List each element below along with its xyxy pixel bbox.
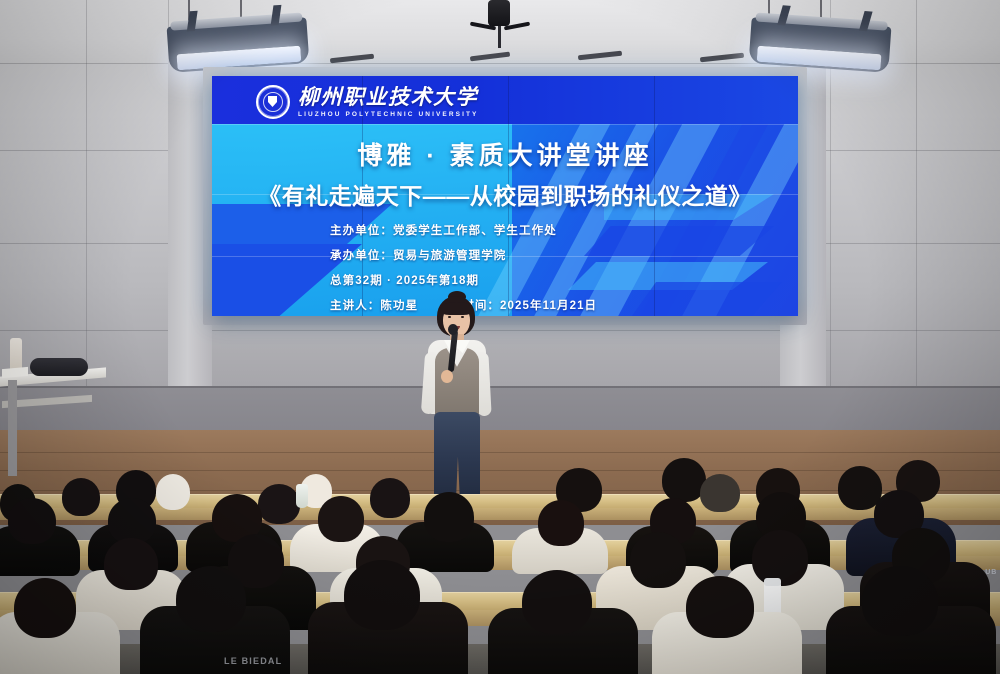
speaker-hand [441,370,453,383]
audience-head [630,532,686,588]
slide-title: 博雅 · 素质大讲堂讲座 [212,136,798,172]
university-logo: 柳州职业技术大学 LIUZHOU POLYTECHNIC UNIVERSITY [256,85,479,119]
info-value: 总第32期 · 2025年第18期 [330,275,479,287]
audience-head [14,578,76,638]
audience-head [370,478,410,518]
speaker-eye [448,316,451,318]
ceiling-projector-icon [470,0,530,42]
led-video-wall: 柳州职业技术大学 LIUZHOU POLYTECHNIC UNIVERSITY … [212,76,798,316]
university-seal-icon [256,85,290,119]
time-value: 2025年11月21日 [500,300,597,312]
info-value: 贸易与旅游管理学院 [393,250,506,262]
audience-head [538,500,584,546]
audience-head [344,560,420,630]
hoodie-text: LE BIEDAL [224,656,282,666]
audience-head [62,478,100,516]
university-name-en: LIUZHOU POLYTECHNIC UNIVERSITY [298,111,479,118]
side-table-leg [8,380,17,476]
thermos-cap [764,578,781,586]
audience-head [318,496,364,542]
speaker-fringe [440,302,473,315]
ceiling-light-left [167,17,310,73]
ceiling-light-right [749,17,892,73]
info-label: 承办单位： [330,250,393,262]
dark-bag [30,358,88,376]
slide-info-line-2: 承办单位：贸易与旅游管理学院 [330,247,506,263]
slide-info-line-1: 主办单位：党委学生工作部、学生工作处 [330,222,557,238]
microphone-head-icon [448,324,458,335]
audience-head [258,484,300,524]
info-label: 主办单位： [330,225,393,237]
water-bottle [296,484,308,508]
led-panel-seam [212,124,798,125]
speaker-label: 主讲人： [330,300,380,312]
audience-head [156,474,190,510]
university-name-cn: 柳州职业技术大学 [298,87,479,108]
speaker-eye [461,316,464,318]
audience-head [424,492,474,542]
audience-head [752,530,808,586]
photo-scene: 柳州职业技术大学 LIUZHOU POLYTECHNIC UNIVERSITY … [0,0,1000,674]
info-value: 党委学生工作部、学生工作处 [393,225,557,237]
audience-head [176,566,246,632]
audience-head [522,570,592,634]
audience-head [104,538,158,590]
slide-info-line-3: 总第32期 · 2025年第18期 [330,272,479,288]
speaker-presenter [404,296,508,504]
slide-subtitle: 《有礼走遍天下——从校园到职场的礼仪之道》 [212,177,798,211]
audience-head [700,474,740,512]
audience-head [8,498,56,544]
audience-head [862,566,938,636]
speaker-pants [434,412,480,498]
audience-head [686,576,754,638]
